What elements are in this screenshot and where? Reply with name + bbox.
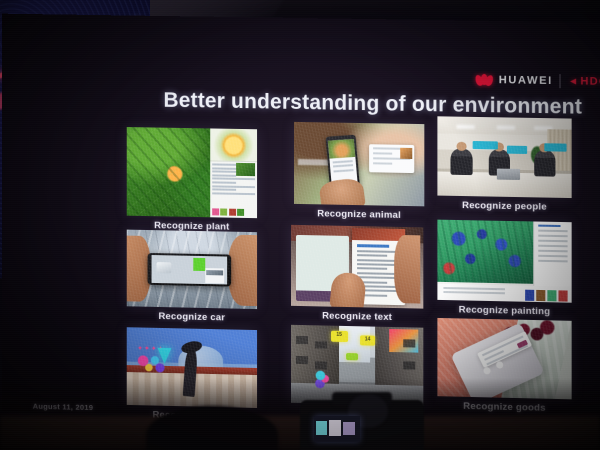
painting-info-panel <box>533 221 572 288</box>
thumbnail-text <box>291 225 423 309</box>
people-name-tag <box>472 141 497 149</box>
animal-result-card <box>370 145 414 174</box>
caption-people: Recognize people <box>437 200 571 214</box>
caret-icon: ◄ <box>568 76 579 87</box>
tile-people: Recognize people <box>437 116 571 213</box>
thumbnail-painting <box>437 220 571 303</box>
tile-car: Recognize car <box>127 230 257 324</box>
caption-painting: Recognize painting <box>437 304 571 318</box>
thumbnail-animal <box>294 122 424 206</box>
huawei-wordmark: HUAWEI <box>499 74 553 87</box>
hdc-event-mark: ◄HDC <box>568 75 600 88</box>
thumbnail-plant <box>127 127 257 218</box>
thumbnail-car <box>127 230 257 309</box>
thumbnail-people <box>437 116 571 198</box>
hdc-label: HDC <box>580 75 600 88</box>
people-name-tag <box>545 144 567 152</box>
brand-divider <box>560 74 561 88</box>
projection-screen: Better understanding of our environment … <box>2 14 600 426</box>
ar-building-tag: 15 <box>331 330 348 341</box>
people-name-tag <box>507 146 527 154</box>
caption-car: Recognize car <box>127 310 257 324</box>
tile-painting: Recognize painting <box>437 220 571 318</box>
tile-animal: Recognize animal <box>294 122 424 221</box>
photo-scene: Better understanding of our environment … <box>0 0 600 450</box>
plant-info-panel <box>210 128 257 218</box>
tile-plant: Recognize plant <box>127 127 257 233</box>
camera-lcd-preview <box>314 416 360 442</box>
caption-text: Recognize text <box>291 310 423 324</box>
ar-building-tag: 14 <box>360 336 376 346</box>
caption-animal: Recognize animal <box>294 208 424 222</box>
slide-title: Better understanding of our environment <box>163 89 582 120</box>
ar-arrow-icon <box>158 348 172 364</box>
tile-text: Recognize text <box>291 225 423 324</box>
huawei-flower-logo-icon <box>476 74 492 86</box>
car-phone <box>148 253 231 287</box>
huawei-branding: HUAWEI ◄HDC <box>476 73 600 89</box>
ar-building-tag-small <box>346 353 358 360</box>
